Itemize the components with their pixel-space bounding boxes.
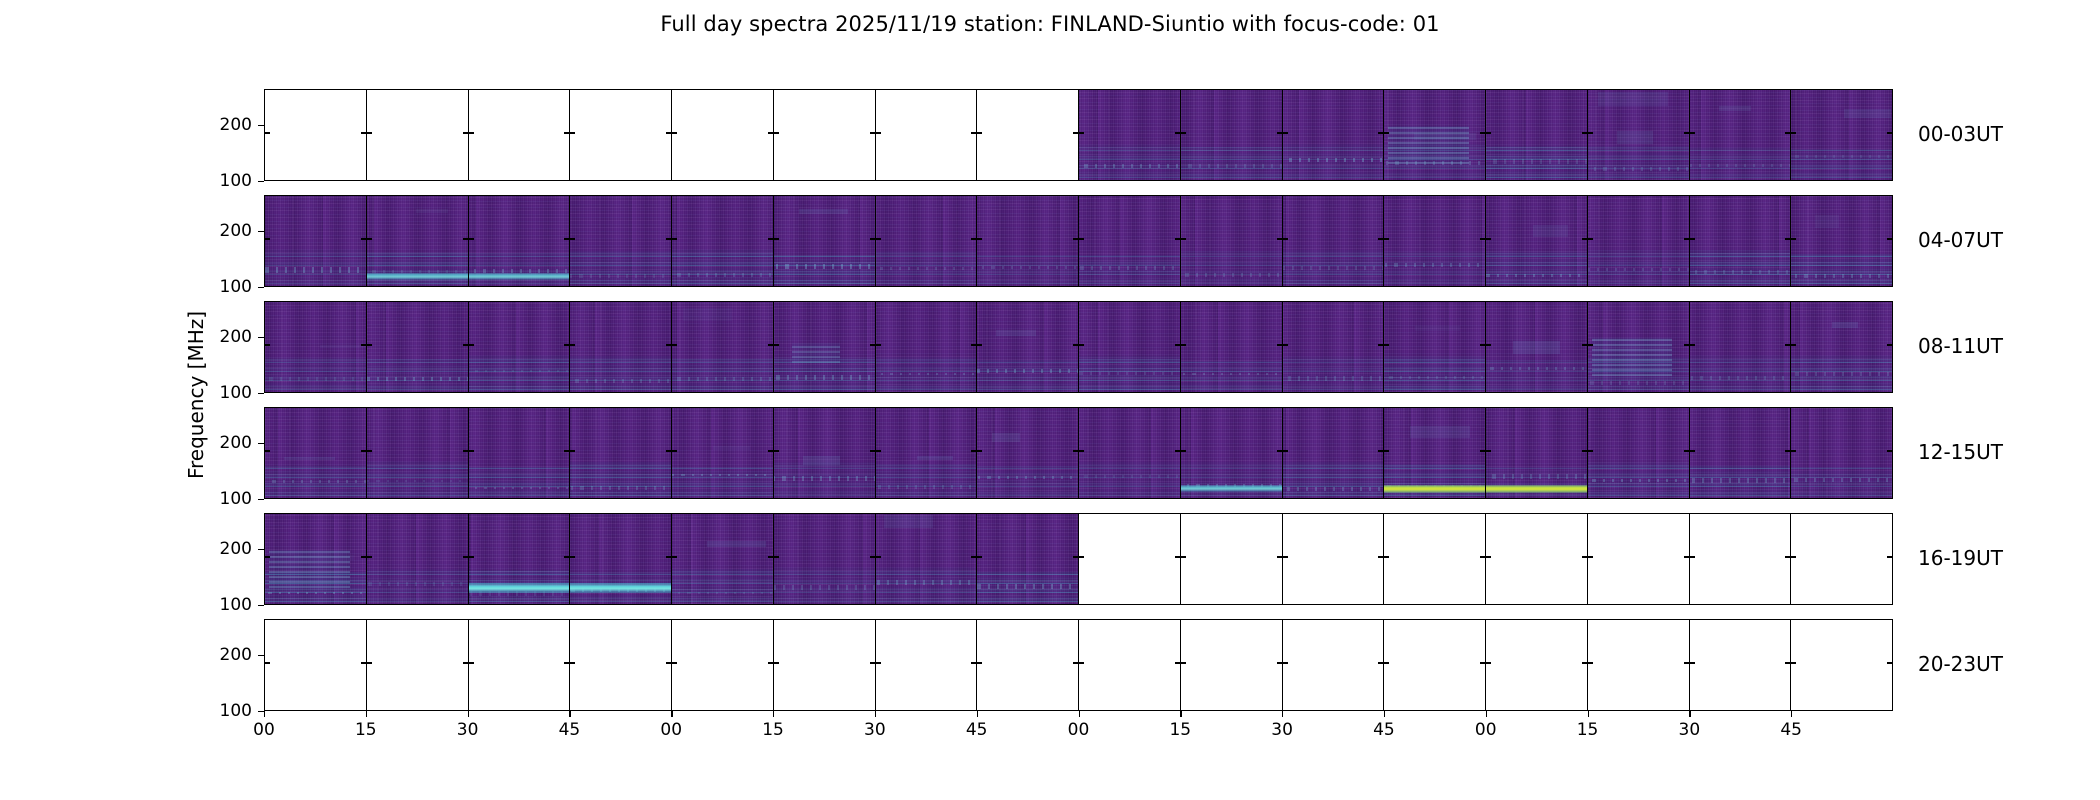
y-tick-mark-inner bbox=[971, 450, 976, 451]
spectrogram-image bbox=[1384, 408, 1485, 498]
spectrogram-speckle bbox=[265, 267, 366, 272]
spectrogram-row bbox=[264, 89, 1893, 181]
spectrogram-image bbox=[1690, 302, 1791, 392]
y-tick-mark-inner bbox=[564, 662, 569, 663]
spectrogram-image bbox=[876, 196, 977, 286]
spectrogram-cell bbox=[876, 302, 978, 392]
y-tick-mark-inner bbox=[1684, 238, 1689, 239]
y-tick-mark-inner bbox=[672, 556, 677, 557]
spectrogram-cell bbox=[672, 408, 774, 498]
row-label-00-03ut: 00-03UT bbox=[1918, 122, 2003, 146]
y-tick-mark bbox=[258, 443, 264, 444]
y-tick-mark-inner bbox=[666, 662, 671, 663]
spectrogram-speckle bbox=[876, 267, 977, 269]
y-tick-mark-inner bbox=[666, 238, 671, 239]
y-tick-mark-inner bbox=[1582, 238, 1587, 239]
spectrogram-cell bbox=[367, 196, 469, 286]
emission-band-cyan bbox=[469, 273, 570, 279]
spectrogram-cell bbox=[1283, 196, 1385, 286]
y-tick-mark-inner bbox=[1486, 662, 1491, 663]
x-tick-label: 30 bbox=[1679, 720, 1701, 740]
cyan-striations bbox=[1791, 254, 1892, 286]
spectrogram-speckle bbox=[1486, 274, 1587, 278]
cyan-striations bbox=[977, 466, 1078, 498]
spectrogram-cell bbox=[1181, 90, 1283, 180]
y-tick-mark-inner bbox=[1283, 132, 1288, 133]
cyan-striations bbox=[367, 569, 468, 604]
y-tick-mark-inner bbox=[1079, 662, 1084, 663]
y-tick-mark-inner bbox=[1480, 344, 1485, 345]
spectrogram-cell bbox=[977, 302, 1079, 392]
y-tick-mark-inner bbox=[1684, 132, 1689, 133]
diffuse-haze bbox=[1598, 92, 1669, 106]
row-label-12-15ut: 12-15UT bbox=[1918, 440, 2003, 464]
cyan-striations bbox=[1181, 462, 1282, 498]
spectrogram-image bbox=[570, 196, 671, 286]
spectrogram-cell-empty bbox=[1181, 514, 1283, 604]
spectrogram-row bbox=[264, 619, 1893, 711]
y-tick-mark bbox=[258, 499, 264, 500]
emission-band-green bbox=[1486, 485, 1587, 492]
y-tick-mark-inner bbox=[1378, 344, 1383, 345]
y-tick-mark-inner bbox=[876, 344, 881, 345]
spectrogram-cell bbox=[1588, 90, 1690, 180]
y-tick-mark-inner bbox=[1588, 556, 1593, 557]
y-tick-mark-inner bbox=[774, 556, 779, 557]
y-tick-label: 200 bbox=[220, 645, 252, 665]
spectrogram-speckle bbox=[1791, 372, 1892, 375]
y-tick-mark-inner bbox=[1690, 450, 1695, 451]
y-tick-mark-inner bbox=[1175, 450, 1180, 451]
y-tick-mark-inner bbox=[1582, 344, 1587, 345]
y-tick-mark bbox=[258, 231, 264, 232]
spectrogram-cell bbox=[1079, 196, 1181, 286]
spectrogram-speckle bbox=[1181, 164, 1282, 168]
y-tick-mark-inner bbox=[1079, 450, 1084, 451]
cyan-striations bbox=[367, 359, 468, 392]
spectrogram-speckle bbox=[1181, 273, 1282, 277]
y-tick-mark-inner bbox=[1378, 450, 1383, 451]
cyan-striations bbox=[570, 462, 671, 498]
y-tick-mark-inner bbox=[469, 238, 474, 239]
spectrogram-row bbox=[264, 407, 1893, 499]
y-tick-mark-inner bbox=[1887, 132, 1892, 133]
emission-band-cyan bbox=[367, 273, 468, 279]
spectrogram-speckle bbox=[977, 369, 1078, 373]
spectrogram-cell bbox=[977, 408, 1079, 498]
y-tick-mark-inner bbox=[361, 132, 366, 133]
spectrogram-cell bbox=[1588, 408, 1690, 498]
y-tick-mark bbox=[258, 605, 264, 606]
y-tick-mark-inner bbox=[666, 344, 671, 345]
y-tick-mark-inner bbox=[265, 344, 270, 345]
y-tick-mark-inner bbox=[1283, 238, 1288, 239]
spectrogram-cell-empty bbox=[265, 90, 367, 180]
spectrogram-image bbox=[1079, 408, 1180, 498]
spectrogram-cell bbox=[265, 196, 367, 286]
spectrogram-image bbox=[1181, 408, 1282, 498]
y-tick-mark-inner bbox=[1384, 132, 1389, 133]
y-tick-mark-inner bbox=[1791, 132, 1796, 133]
x-tick-label: 00 bbox=[1068, 720, 1090, 740]
spectrogram-cell-empty bbox=[1079, 514, 1181, 604]
y-tick-mark-inner bbox=[1887, 556, 1892, 557]
spectrogram-cell bbox=[774, 514, 876, 604]
spectrogram-cell-empty bbox=[1690, 514, 1792, 604]
spectrogram-speckle bbox=[1588, 479, 1689, 482]
y-tick-mark-inner bbox=[1073, 238, 1078, 239]
cyan-patch bbox=[792, 343, 840, 363]
spectrogram-image bbox=[265, 196, 366, 286]
x-tick-mark bbox=[1079, 711, 1080, 717]
y-tick-mark-inner bbox=[265, 238, 270, 239]
x-tick-mark bbox=[468, 711, 469, 717]
cyan-striations bbox=[1079, 462, 1180, 498]
y-tick-mark-inner bbox=[463, 556, 468, 557]
y-tick-label: 100 bbox=[220, 277, 252, 297]
y-tick-mark-inner bbox=[1283, 450, 1288, 451]
spectrogram-image bbox=[1690, 90, 1791, 180]
spectrogram-cell bbox=[469, 302, 571, 392]
spectrogram-speckle bbox=[1791, 155, 1892, 158]
spectrogram-cell bbox=[570, 302, 672, 392]
spectrogram-cell bbox=[265, 514, 367, 604]
spectrogram-cell bbox=[1384, 90, 1486, 180]
spectrogram-haze bbox=[284, 457, 335, 460]
spectrogram-cell bbox=[1690, 196, 1792, 286]
spectrogram-speckle bbox=[876, 485, 977, 489]
cyan-striations bbox=[570, 355, 671, 392]
y-tick-mark-inner bbox=[1791, 556, 1796, 557]
spectrogram-cell-empty bbox=[1079, 620, 1181, 710]
y-tick-mark-inner bbox=[977, 344, 982, 345]
y-tick-mark-inner bbox=[265, 132, 270, 133]
y-tick-mark-inner bbox=[1887, 450, 1892, 451]
y-tick-mark-inner bbox=[1684, 556, 1689, 557]
y-tick-mark-inner bbox=[1283, 344, 1288, 345]
spectrogram-cell-empty bbox=[977, 620, 1079, 710]
y-tick-mark-inner bbox=[768, 450, 773, 451]
y-tick-mark-inner bbox=[570, 556, 575, 557]
y-tick-mark-inner bbox=[977, 450, 982, 451]
spectrogram-cell bbox=[1690, 302, 1792, 392]
y-tick-mark-inner bbox=[1384, 450, 1389, 451]
spectrogram-image bbox=[1384, 90, 1485, 180]
spectrogram-image bbox=[1486, 408, 1587, 498]
x-tick-label: 15 bbox=[762, 720, 784, 740]
spectrogram-speckle bbox=[672, 474, 773, 476]
spectrogram-cell bbox=[570, 408, 672, 498]
spectrogram-speckle bbox=[265, 377, 366, 381]
spectrogram-cell bbox=[265, 302, 367, 392]
spectrogram-haze bbox=[803, 456, 841, 465]
spectrogram-image bbox=[367, 514, 468, 604]
y-tick-mark-inner bbox=[1283, 556, 1288, 557]
spectrogram-speckle bbox=[1181, 373, 1282, 375]
spectrogram-cell bbox=[1791, 302, 1892, 392]
y-tick-mark-inner bbox=[1785, 662, 1790, 663]
y-tick-mark-inner bbox=[1073, 450, 1078, 451]
y-tick-mark-inner bbox=[1181, 662, 1186, 663]
y-tick-mark-inner bbox=[672, 344, 677, 345]
spectrogram-image bbox=[570, 302, 671, 392]
spectrogram-cell bbox=[1690, 408, 1792, 498]
y-tick-mark-inner bbox=[1277, 344, 1282, 345]
y-tick-mark-inner bbox=[774, 450, 779, 451]
spectrogram-cell bbox=[1690, 90, 1792, 180]
cyan-striations bbox=[1181, 251, 1282, 286]
spectrogram-cell bbox=[469, 514, 571, 604]
cyan-striations bbox=[1486, 360, 1587, 392]
spectrogram-speckle bbox=[1486, 474, 1587, 478]
spectrogram-cell bbox=[1079, 302, 1181, 392]
spectrogram-image bbox=[977, 514, 1078, 604]
y-tick-mark-inner bbox=[463, 344, 468, 345]
spectrogram-image bbox=[1079, 90, 1180, 180]
page-title: Full day spectra 2025/11/19 station: FIN… bbox=[0, 12, 2100, 36]
spectrogram-image bbox=[1588, 196, 1689, 286]
x-tick-mark bbox=[773, 711, 774, 717]
emission-band-cyan bbox=[1181, 485, 1282, 491]
spectrogram-speckle bbox=[1588, 167, 1689, 170]
y-tick-label: 200 bbox=[220, 327, 252, 347]
spectrogram-speckle bbox=[774, 585, 875, 590]
spectrogram-cell bbox=[1181, 302, 1283, 392]
y-tick-mark-inner bbox=[1480, 132, 1485, 133]
spectrogram-image bbox=[367, 302, 468, 392]
spectrogram-cell bbox=[977, 196, 1079, 286]
spectrogram-cell bbox=[1486, 90, 1588, 180]
y-tick-mark-inner bbox=[564, 556, 569, 557]
y-tick-mark-inner bbox=[1684, 450, 1689, 451]
spectrogram-image bbox=[672, 514, 773, 604]
spectrogram-cell-empty bbox=[977, 90, 1079, 180]
y-tick-mark-inner bbox=[1073, 556, 1078, 557]
spectrogram-image bbox=[774, 514, 875, 604]
y-tick-mark-inner bbox=[1486, 238, 1491, 239]
y-tick-mark-inner bbox=[570, 662, 575, 663]
y-axis-label: Frequency [MHz] bbox=[184, 311, 208, 479]
x-tick-label: 45 bbox=[1780, 720, 1802, 740]
spectrogram-cell bbox=[774, 408, 876, 498]
spectrogram-image bbox=[672, 408, 773, 498]
y-tick-mark-inner bbox=[367, 556, 372, 557]
y-tick-mark-inner bbox=[367, 132, 372, 133]
y-tick-mark-inner bbox=[361, 450, 366, 451]
y-tick-mark-inner bbox=[870, 344, 875, 345]
spectrogram-speckle bbox=[1283, 158, 1384, 162]
spectrogram-speckle bbox=[1588, 268, 1689, 271]
spectrogram-figure: Full day spectra 2025/11/19 station: FIN… bbox=[0, 0, 2100, 800]
y-tick-mark-inner bbox=[361, 238, 366, 239]
cyan-striations bbox=[672, 569, 773, 604]
cyan-striations bbox=[1791, 149, 1892, 180]
spectrogram-image bbox=[774, 196, 875, 286]
y-tick-mark-inner bbox=[774, 662, 779, 663]
y-tick-mark-inner bbox=[1480, 450, 1485, 451]
y-tick-mark bbox=[258, 337, 264, 338]
spectrogram-cell-empty bbox=[876, 620, 978, 710]
y-tick-mark-inner bbox=[1785, 132, 1790, 133]
spectrogram-speckle bbox=[1791, 274, 1892, 278]
spectrogram-speckle bbox=[774, 375, 875, 380]
y-tick-mark-inner bbox=[971, 132, 976, 133]
y-tick-label: 100 bbox=[220, 701, 252, 721]
y-tick-mark-inner bbox=[570, 132, 575, 133]
spectrogram-speckle bbox=[1690, 164, 1791, 167]
y-tick-mark-inner bbox=[469, 556, 474, 557]
spectrogram-image bbox=[367, 408, 468, 498]
spectrogram-cell-empty bbox=[672, 620, 774, 710]
spectrogram-cell bbox=[672, 302, 774, 392]
row-label-16-19ut: 16-19UT bbox=[1918, 546, 2003, 570]
x-tick-mark bbox=[1282, 711, 1283, 717]
spectrogram-haze bbox=[1617, 131, 1653, 144]
y-tick-mark bbox=[258, 393, 264, 394]
y-tick-mark-inner bbox=[367, 450, 372, 451]
cyan-striations bbox=[977, 360, 1078, 392]
spectrogram-cell-empty bbox=[1283, 620, 1385, 710]
y-tick-mark-inner bbox=[672, 450, 677, 451]
spectrogram-cell bbox=[469, 408, 571, 498]
spectrogram-speckle bbox=[977, 476, 1078, 479]
spectrogram-haze bbox=[884, 515, 933, 528]
spectrogram-cell bbox=[1588, 196, 1690, 286]
spectrogram-speckle bbox=[1384, 376, 1485, 379]
y-tick-mark-inner bbox=[774, 344, 779, 345]
y-tick-label: 100 bbox=[220, 171, 252, 191]
y-tick-mark-inner bbox=[1378, 238, 1383, 239]
spectrogram-cell bbox=[1384, 196, 1486, 286]
y-tick-mark-inner bbox=[469, 662, 474, 663]
x-tick-mark bbox=[1180, 711, 1181, 717]
striation-cluster bbox=[1592, 338, 1673, 376]
x-tick-mark bbox=[569, 711, 570, 717]
spectrogram-cell bbox=[1486, 302, 1588, 392]
y-tick-mark-inner bbox=[1384, 238, 1389, 239]
spectrogram-speckle bbox=[876, 580, 977, 585]
spectrogram-image bbox=[469, 514, 570, 604]
cyan-striations bbox=[1079, 255, 1180, 286]
y-tick-mark-inner bbox=[876, 132, 881, 133]
spectrogram-speckle bbox=[469, 487, 570, 489]
y-tick-mark-inner bbox=[666, 556, 671, 557]
spectrogram-speckle bbox=[1690, 376, 1791, 380]
y-tick-mark-inner bbox=[1785, 556, 1790, 557]
emission-band-cyan-bright bbox=[469, 583, 570, 593]
cyan-striations bbox=[469, 354, 570, 392]
spectrogram-image bbox=[570, 514, 671, 604]
spectrogram-cell-empty bbox=[570, 620, 672, 710]
y-tick-mark-inner bbox=[870, 662, 875, 663]
spectrogram-image bbox=[265, 514, 366, 604]
spectrogram-haze bbox=[1415, 326, 1460, 331]
y-tick-mark-inner bbox=[1480, 238, 1485, 239]
spectrogram-cell-empty bbox=[774, 620, 876, 710]
spectrogram-image bbox=[367, 196, 468, 286]
y-tick-mark-inner bbox=[367, 238, 372, 239]
cyan-striations bbox=[1588, 146, 1689, 180]
x-tick-label: 00 bbox=[253, 720, 275, 740]
spectrogram-speckle bbox=[876, 373, 977, 375]
y-tick-mark-inner bbox=[1181, 344, 1186, 345]
spectrogram-cell-empty bbox=[1384, 620, 1486, 710]
spectrogram-image bbox=[774, 408, 875, 498]
spectrogram-speckle bbox=[1791, 478, 1892, 482]
spectrogram-image bbox=[774, 302, 875, 392]
spectrogram-cell-empty bbox=[469, 620, 571, 710]
spectrogram-haze bbox=[683, 308, 731, 321]
spectrogram-cell bbox=[1588, 302, 1690, 392]
spectrogram-speckle bbox=[774, 264, 875, 268]
spectrogram-image bbox=[1079, 302, 1180, 392]
spectrogram-speckle bbox=[570, 274, 671, 277]
cyan-striations bbox=[1384, 252, 1485, 286]
spectrogram-haze bbox=[917, 456, 954, 459]
y-tick-mark-inner bbox=[1079, 556, 1084, 557]
y-tick-mark-inner bbox=[1480, 556, 1485, 557]
y-tick-mark bbox=[258, 287, 264, 288]
y-tick-mark-inner bbox=[463, 238, 468, 239]
spectrogram-image bbox=[672, 302, 773, 392]
spectrogram-haze bbox=[1832, 322, 1858, 328]
spectrogram-image bbox=[876, 408, 977, 498]
spectrogram-speckle bbox=[1588, 381, 1689, 385]
y-tick-mark-inner bbox=[977, 556, 982, 557]
spectrogram-haze bbox=[799, 209, 849, 214]
spectrogram-image bbox=[1486, 196, 1587, 286]
spectrogram-image bbox=[1486, 302, 1587, 392]
striation-cluster bbox=[269, 550, 350, 588]
spectrogram-cell-empty bbox=[1486, 514, 1588, 604]
cyan-striations bbox=[570, 251, 671, 286]
y-tick-mark bbox=[258, 655, 264, 656]
y-tick-mark-inner bbox=[876, 556, 881, 557]
cyan-striations bbox=[672, 250, 773, 287]
spectrogram-speckle bbox=[570, 379, 671, 383]
spectrogram-speckle bbox=[672, 377, 773, 381]
y-tick-mark-inner bbox=[564, 450, 569, 451]
y-tick-mark-inner bbox=[977, 238, 982, 239]
y-tick-mark-inner bbox=[570, 450, 575, 451]
spectrogram-image bbox=[876, 302, 977, 392]
y-tick-mark-inner bbox=[1791, 662, 1796, 663]
emission-band-cyan-bright bbox=[570, 583, 671, 593]
spectrogram-speckle bbox=[570, 486, 671, 489]
row-label-08-11ut: 08-11UT bbox=[1918, 334, 2003, 358]
y-tick-mark-inner bbox=[876, 450, 881, 451]
y-tick-mark-inner bbox=[1588, 344, 1593, 345]
spectrogram-haze bbox=[992, 433, 1020, 442]
y-tick-mark-inner bbox=[1378, 556, 1383, 557]
cyan-striations bbox=[672, 359, 773, 392]
striation-cluster bbox=[1388, 126, 1469, 164]
cyan-striations bbox=[1181, 361, 1282, 392]
cyan-striations bbox=[876, 567, 977, 604]
spectrogram-image bbox=[265, 302, 366, 392]
spectrogram-speckle bbox=[1690, 478, 1791, 483]
y-tick-mark-inner bbox=[1582, 662, 1587, 663]
spectrogram-cell bbox=[367, 302, 469, 392]
spectrogram-image bbox=[469, 302, 570, 392]
y-tick-mark-inner bbox=[1887, 662, 1892, 663]
y-tick-mark-inner bbox=[1684, 344, 1689, 345]
spectrogram-speckle bbox=[672, 273, 773, 277]
y-tick-mark-inner bbox=[564, 344, 569, 345]
spectrogram-speckle bbox=[265, 480, 366, 483]
spectrogram-image bbox=[1181, 302, 1282, 392]
y-tick-label: 100 bbox=[220, 595, 252, 615]
